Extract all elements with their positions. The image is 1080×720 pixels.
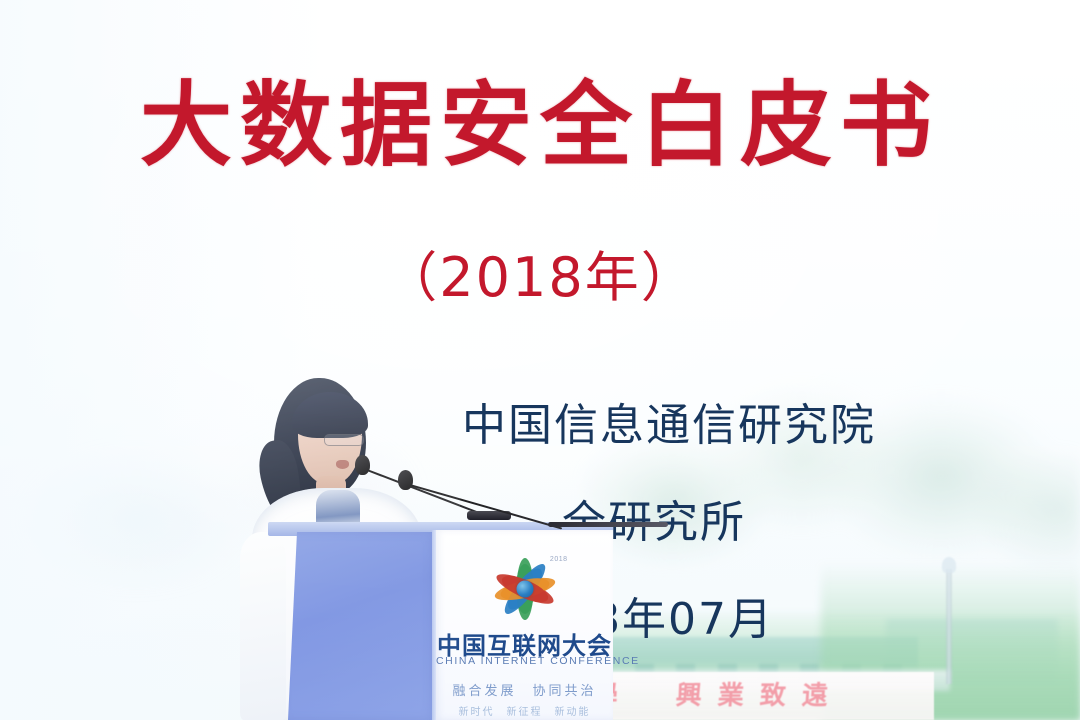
speaker-glasses [324,434,364,446]
conference-slogan-sub: 新时代 新征程 新动能 [436,703,613,718]
speaker-mouth [336,460,349,469]
globe-icon [516,581,533,598]
slide-title: 大数据安全白皮书 [0,78,1080,175]
conference-name-en: CHINA INTERNET CONFERENCE [436,655,613,667]
slide-body-line-date: 18年07月 [562,598,1022,642]
conference-slogan-main: 融合发展 协同共治 [436,680,613,699]
slide-subtitle: （2018年） [0,233,1080,312]
slide-body-line-organization: 中国信息通信研究院 [462,404,1022,448]
gooseneck-microphone-right [398,470,578,580]
presentation-photo: 學 興業致遠 大数据安全白皮书 （2018年） 中国信息通信研究院 全研究所 1… [0,0,1080,720]
